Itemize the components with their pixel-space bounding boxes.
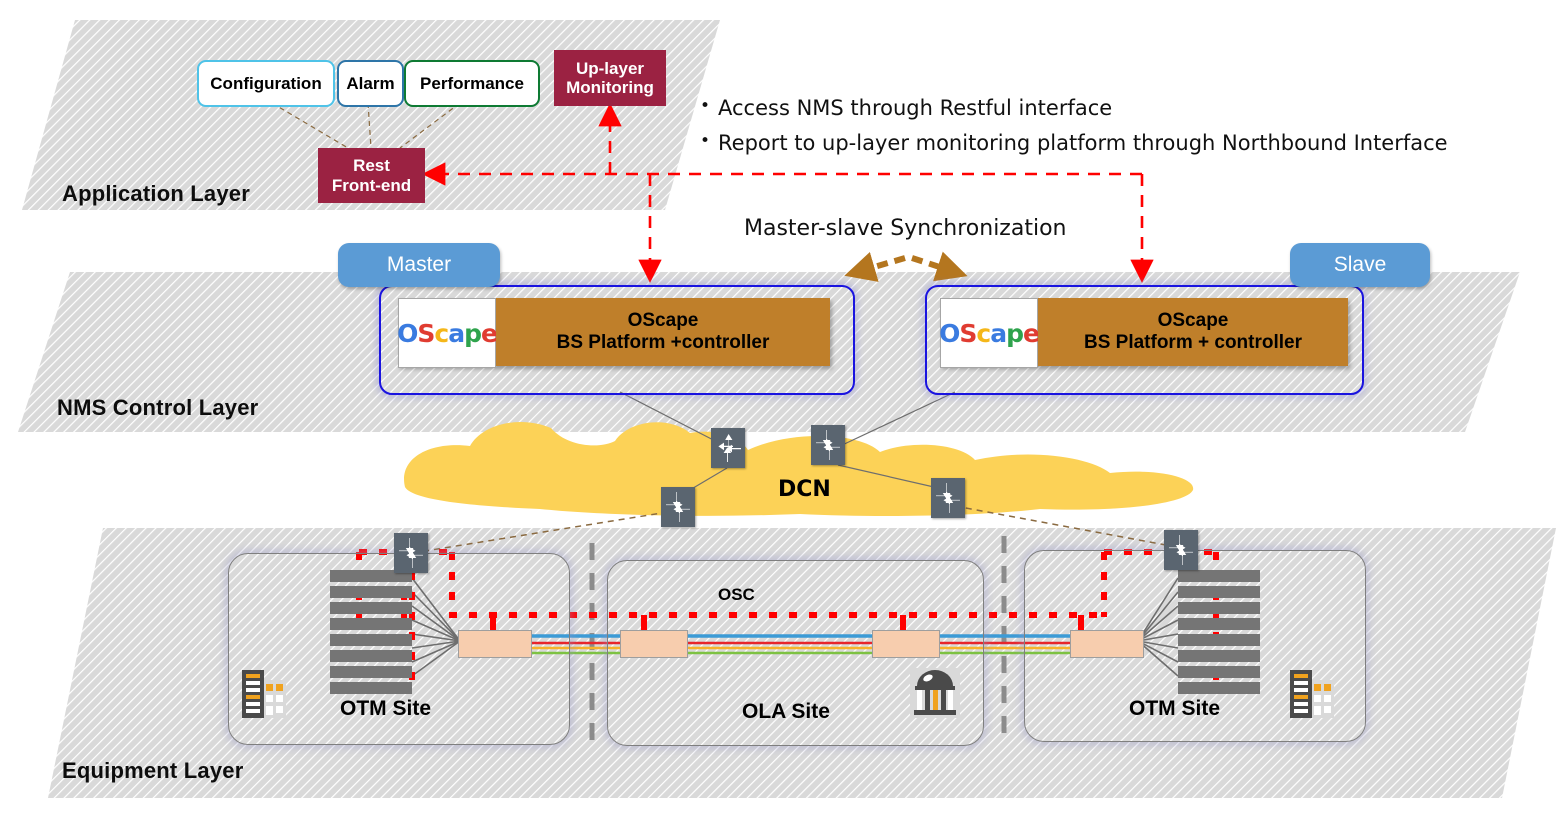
logo-letter-e: e: [481, 319, 497, 348]
amplifier-otm-left[interactable]: [458, 630, 532, 658]
rack-shelf: [330, 682, 412, 694]
site-label-ola-mid: OLA Site: [742, 700, 830, 724]
rack-shelf: [1178, 618, 1260, 630]
rack-otm-left: [330, 570, 412, 692]
equipment-layer-label: Equipment Layer: [62, 758, 243, 784]
rack-otm-right: [1178, 570, 1260, 692]
rack-shelf: [330, 618, 412, 630]
osc-label: OSC: [718, 585, 755, 605]
logo-letter-o: O: [397, 319, 417, 348]
rack-shelf: [1178, 586, 1260, 598]
bullet-text-2: Report to up-layer monitoring platform t…: [718, 133, 1448, 154]
router-icon[interactable]: [661, 487, 695, 527]
rack-shelf: [1178, 634, 1260, 646]
master-node-text: OScape BS Platform +controller: [496, 298, 830, 366]
rack-shelf: [330, 650, 412, 662]
logo-letter-o: O: [939, 319, 959, 348]
rack-shelf: [1178, 682, 1260, 694]
amplifier-ola-right[interactable]: [872, 630, 940, 658]
rack-shelf: [330, 586, 412, 598]
logo-letter-e: e: [1023, 319, 1039, 348]
application-bullet-list: • Access NMS through Restful interface •…: [700, 98, 1448, 168]
logo-letter-a: a: [448, 319, 464, 348]
oscape-logo-text: OScape: [939, 321, 1039, 346]
rack-shelf: [330, 634, 412, 646]
office-building-icon-left: [240, 668, 288, 720]
bullet-marker: •: [700, 98, 718, 116]
logo-letter-s: S: [959, 319, 976, 348]
sync-arrow-right: [912, 258, 955, 272]
logo-letter-p: p: [464, 319, 481, 348]
amplifier-otm-right[interactable]: [1070, 630, 1144, 658]
bullet-text-1: Access NMS through Restful interface: [718, 98, 1112, 119]
master-slave-sync-label: Master-slave Synchronization: [744, 216, 1066, 241]
slave-node[interactable]: OScape OScape BS Platform + controller: [940, 298, 1348, 366]
rest-frontend-box[interactable]: Rest Front-end: [318, 148, 425, 203]
logo-letter-p: p: [1006, 319, 1023, 348]
rack-shelf: [1178, 650, 1260, 662]
amplifier-ola-left[interactable]: [620, 630, 688, 658]
dcn-label: DCN: [778, 477, 831, 502]
office-building-icon-right: [1288, 668, 1336, 720]
router-icon[interactable]: [711, 428, 745, 468]
rack-shelf: [1178, 570, 1260, 582]
master-oscape-logo: OScape: [398, 298, 496, 368]
sync-arrow-left: [857, 258, 905, 272]
router-icon[interactable]: [811, 425, 845, 465]
up-layer-monitoring-line2: Monitoring: [566, 78, 654, 97]
rest-frontend-line2: Front-end: [332, 176, 411, 195]
logo-letter-a: a: [990, 319, 1006, 348]
slave-role-pill[interactable]: Slave: [1290, 243, 1430, 287]
nms-layer-label: NMS Control Layer: [57, 395, 258, 421]
master-node-title: OScape: [628, 310, 699, 332]
master-role-pill[interactable]: Master: [338, 243, 500, 287]
rack-shelf: [1178, 602, 1260, 614]
oscape-logo-text: OScape: [397, 321, 497, 346]
diagram-canvas: Application Layer Configuration Alarm Pe…: [0, 0, 1556, 820]
rack-shelf: [1178, 666, 1260, 678]
router-icon[interactable]: [931, 478, 965, 518]
site-label-otm-left: OTM Site: [340, 697, 431, 721]
application-layer-label: Application Layer: [62, 181, 250, 207]
slave-node-title: OScape: [1158, 310, 1229, 332]
slave-oscape-logo: OScape: [940, 298, 1038, 368]
slave-node-subtitle: BS Platform + controller: [1084, 332, 1302, 354]
logo-letter-c: c: [976, 319, 990, 348]
logo-letter-s: S: [417, 319, 434, 348]
logo-letter-c: c: [434, 319, 448, 348]
rack-shelf: [330, 666, 412, 678]
rest-frontend-line1: Rest: [353, 156, 390, 175]
bank-building-icon: [910, 668, 960, 718]
up-layer-monitoring-box[interactable]: Up-layer Monitoring: [554, 50, 666, 106]
bullet-item-2: • Report to up-layer monitoring platform…: [700, 133, 1448, 154]
router-icon[interactable]: [1164, 530, 1198, 570]
router-icon[interactable]: [394, 533, 428, 573]
bullet-marker: •: [700, 133, 718, 151]
app-module-configuration[interactable]: Configuration: [197, 60, 335, 107]
app-module-performance[interactable]: Performance: [404, 60, 540, 107]
app-module-alarm[interactable]: Alarm: [337, 60, 404, 107]
rack-shelf: [330, 602, 412, 614]
master-node-subtitle: BS Platform +controller: [557, 332, 770, 354]
site-label-otm-right: OTM Site: [1129, 697, 1220, 721]
master-node[interactable]: OScape OScape BS Platform +controller: [398, 298, 830, 366]
up-layer-monitoring-line1: Up-layer: [576, 59, 644, 78]
slave-node-text: OScape BS Platform + controller: [1038, 298, 1348, 366]
bullet-item-1: • Access NMS through Restful interface: [700, 98, 1448, 119]
